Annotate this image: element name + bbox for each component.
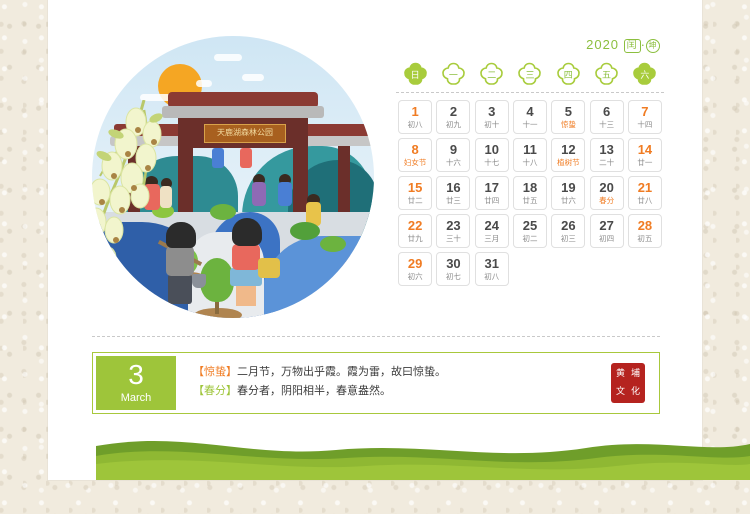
lunar-mark-2: 坤: [646, 39, 660, 53]
lunar-label: 春分: [599, 196, 614, 206]
blossom-badge-icon: 二: [479, 62, 504, 86]
lunar-mark-1: 闰: [624, 39, 641, 53]
calendar-panel: 2020 闰·坤 日一二三四五六 1初八2初九3初十4十一5惊蛰6十三7十四8妇…: [396, 36, 664, 286]
green-hills-decoration: [96, 428, 750, 480]
weekday-label: 二: [487, 68, 496, 81]
header-divider: [396, 92, 664, 93]
date-number: 4: [526, 105, 533, 119]
shrub-shape: [290, 222, 320, 240]
illustration-circle: 天鹿湖森林公园: [92, 36, 374, 318]
lunar-label: 廿一: [637, 158, 652, 168]
gate-plaque-text: 天鹿湖森林公园: [205, 125, 285, 140]
lunar-label: 廿九: [408, 234, 423, 244]
month-name: March: [121, 391, 152, 405]
date-cell[interactable]: 21廿八: [628, 176, 662, 210]
lunar-label: 初八: [408, 120, 423, 130]
date-number: 29: [408, 257, 422, 271]
weekday-label: 一: [449, 68, 458, 81]
note-text-area: 【惊蛰】二月节，万物出乎霞。霞为雷，故曰惊蛰。【春分】春分者，阴阳相半，春意盎然…: [179, 353, 611, 413]
calendar-card: 天鹿湖森林公园: [48, 0, 702, 480]
weekday-header-cell: 四: [549, 62, 587, 86]
lunar-label: 初三: [561, 234, 576, 244]
lunar-label: 初七: [446, 272, 461, 282]
date-cell[interactable]: 12植树节: [551, 138, 585, 172]
girl-legs: [236, 284, 256, 306]
date-cell[interactable]: 23三十: [436, 214, 470, 248]
date-cell[interactable]: 5惊蛰: [551, 100, 585, 134]
blossom-badge-icon: 五: [594, 62, 619, 86]
date-number: 23: [446, 219, 460, 233]
date-number: 8: [412, 143, 419, 157]
note-line: 【春分】春分者，阴阳相半，春意盎然。: [193, 382, 599, 401]
note-divider: [92, 336, 660, 337]
date-number: 15: [408, 181, 422, 195]
date-cell[interactable]: 10十七: [475, 138, 509, 172]
date-number: 17: [485, 181, 499, 195]
cloud-shape: [242, 74, 264, 81]
lunar-label: 初十: [484, 120, 499, 130]
cloud-shape: [214, 54, 242, 61]
lunar-label: 植树节: [557, 158, 580, 168]
date-number: 2: [450, 105, 457, 119]
date-cell[interactable]: 20春分: [590, 176, 624, 210]
date-cell[interactable]: 8妇女节: [398, 138, 432, 172]
date-cell[interactable]: 18廿五: [513, 176, 547, 210]
month-block: 3 March: [96, 356, 176, 410]
date-number: 21: [638, 181, 652, 195]
lunar-label: 二十: [599, 158, 614, 168]
lunar-label: 廿五: [523, 196, 538, 206]
date-number: 28: [638, 219, 652, 233]
red-seal-stamp: 黄埔文化: [611, 363, 645, 403]
date-cell[interactable]: 28初五: [628, 214, 662, 248]
date-cell[interactable]: 26初三: [551, 214, 585, 248]
lunar-label: 惊蛰: [561, 120, 576, 130]
date-number: 24: [485, 219, 499, 233]
date-cell[interactable]: 15廿二: [398, 176, 432, 210]
lunar-label: 十七: [484, 158, 499, 168]
gate-plaque: 天鹿湖森林公园: [204, 124, 286, 143]
solar-term-tag: 【惊蛰】: [193, 366, 237, 378]
background-person: [278, 182, 292, 206]
date-number: 12: [561, 143, 575, 157]
lunar-label: 廿三: [446, 196, 461, 206]
background-person: [212, 148, 224, 168]
lunar-label: 十六: [446, 158, 461, 168]
lunar-label: 初五: [637, 234, 652, 244]
weekday-label: 六: [640, 68, 649, 81]
date-cell[interactable]: 27初四: [590, 214, 624, 248]
date-cell[interactable]: 22廿九: [398, 214, 432, 248]
solar-term-description: 二月节，万物出乎霞。霞为雷，故曰惊蛰。: [237, 366, 446, 378]
date-cell[interactable]: 6十三: [590, 100, 624, 134]
weekday-header-row: 日一二三四五六: [396, 62, 664, 86]
lunar-label: 初二: [523, 234, 538, 244]
weekday-header-cell: 六: [626, 62, 664, 86]
lunar-label: 十一: [523, 120, 538, 130]
background-person: [252, 182, 266, 206]
seal-character: 化: [628, 383, 643, 401]
lunar-label: 初四: [599, 234, 614, 244]
date-number: 5: [565, 105, 572, 119]
shrub-shape: [320, 236, 346, 252]
date-cell[interactable]: 19廿六: [551, 176, 585, 210]
lunar-label: 廿八: [637, 196, 652, 206]
date-number: 13: [599, 143, 613, 157]
blossom-badge-icon: 四: [556, 62, 581, 86]
seal-character: 文: [613, 383, 628, 401]
date-cell[interactable]: 2初九: [436, 100, 470, 134]
date-number: 10: [485, 143, 499, 157]
lunar-label: 三月: [484, 234, 499, 244]
weekday-header-cell: 五: [587, 62, 625, 86]
date-number: 6: [603, 105, 610, 119]
date-cell[interactable]: 17廿四: [475, 176, 509, 210]
lunar-label: 初六: [408, 272, 423, 282]
weekday-header-cell: 三: [511, 62, 549, 86]
weekday-label: 三: [525, 68, 534, 81]
date-cell[interactable]: 4十一: [513, 100, 547, 134]
date-number: 31: [485, 257, 499, 271]
blossom-badge-icon: 一: [441, 62, 466, 86]
weekday-header-cell: 二: [473, 62, 511, 86]
date-cell[interactable]: 31初八: [475, 252, 509, 286]
date-number: 30: [446, 257, 460, 271]
year-label: 2020: [586, 37, 619, 52]
date-cell[interactable]: 7十四: [628, 100, 662, 134]
date-cell[interactable]: 29初六: [398, 252, 432, 286]
lunar-label: 初九: [446, 120, 461, 130]
girl-body: [232, 244, 260, 270]
date-cell[interactable]: 3初十: [475, 100, 509, 134]
note-line: 【惊蛰】二月节，万物出乎霞。霞为雷，故曰惊蛰。: [193, 363, 599, 382]
girl-hair: [232, 218, 262, 246]
background-person: [240, 148, 252, 168]
blossom-badge-icon: 六: [632, 62, 657, 86]
date-number: 14: [638, 143, 652, 157]
date-grid: 1初八2初九3初十4十一5惊蛰6十三7十四8妇女节9十六10十七11十八12植树…: [396, 100, 664, 286]
date-cell[interactable]: 13二十: [590, 138, 624, 172]
lunar-label: 妇女节: [404, 158, 427, 168]
date-number: 26: [561, 219, 575, 233]
lunar-label: 十四: [637, 120, 652, 130]
date-number: 22: [408, 219, 422, 233]
seal-character: 黄: [613, 365, 628, 383]
year-header: 2020 闰·坤: [396, 36, 664, 54]
weekday-label: 五: [602, 68, 611, 81]
lunar-label: 初八: [484, 272, 499, 282]
month-number: 3: [128, 361, 144, 389]
solar-term-tag: 【春分】: [193, 385, 237, 397]
weekday-label: 四: [564, 68, 573, 81]
gate-side-roof: [298, 124, 372, 136]
date-cell[interactable]: 24三月: [475, 214, 509, 248]
cloud-shape: [196, 80, 212, 87]
solar-term-description: 春分者，阴阳相半，春意盎然。: [237, 385, 391, 397]
date-number: 7: [641, 105, 648, 119]
date-cell[interactable]: 14廿一: [628, 138, 662, 172]
date-cell[interactable]: 30初七: [436, 252, 470, 286]
date-cell[interactable]: 16廿三: [436, 176, 470, 210]
weekday-label: 日: [411, 68, 420, 81]
weekday-header-cell: 一: [434, 62, 472, 86]
lunar-label: 廿六: [561, 196, 576, 206]
shrub-shape: [210, 204, 236, 220]
date-cell[interactable]: 25初二: [513, 214, 547, 248]
solar-term-note: 3 March 【惊蛰】二月节，万物出乎霞。霞为雷，故曰惊蛰。【春分】春分者，阴…: [92, 352, 660, 414]
date-number: 19: [561, 181, 575, 195]
date-number: 1: [412, 105, 419, 119]
weekday-header-cell: 日: [396, 62, 434, 86]
date-number: 11: [523, 143, 537, 157]
date-number: 25: [523, 219, 537, 233]
date-number: 18: [523, 181, 537, 195]
lunar-label: 十三: [599, 120, 614, 130]
lunar-label: 廿二: [408, 196, 423, 206]
flower-branch: [92, 100, 206, 290]
date-number: 9: [450, 143, 457, 157]
watering-can-icon: [258, 258, 280, 278]
date-number: 27: [599, 219, 613, 233]
blossom-badge-icon: 日: [403, 62, 428, 86]
lunar-label: 三十: [446, 234, 461, 244]
lunar-label: 十八: [523, 158, 538, 168]
date-number: 3: [488, 105, 495, 119]
date-cell[interactable]: 11十八: [513, 138, 547, 172]
seal-character: 埔: [628, 365, 643, 383]
date-number: 16: [446, 181, 460, 195]
date-cell[interactable]: 9十六: [436, 138, 470, 172]
lunar-label: 廿四: [484, 196, 499, 206]
date-number: 20: [599, 181, 613, 195]
date-cell[interactable]: 1初八: [398, 100, 432, 134]
blossom-badge-icon: 三: [517, 62, 542, 86]
